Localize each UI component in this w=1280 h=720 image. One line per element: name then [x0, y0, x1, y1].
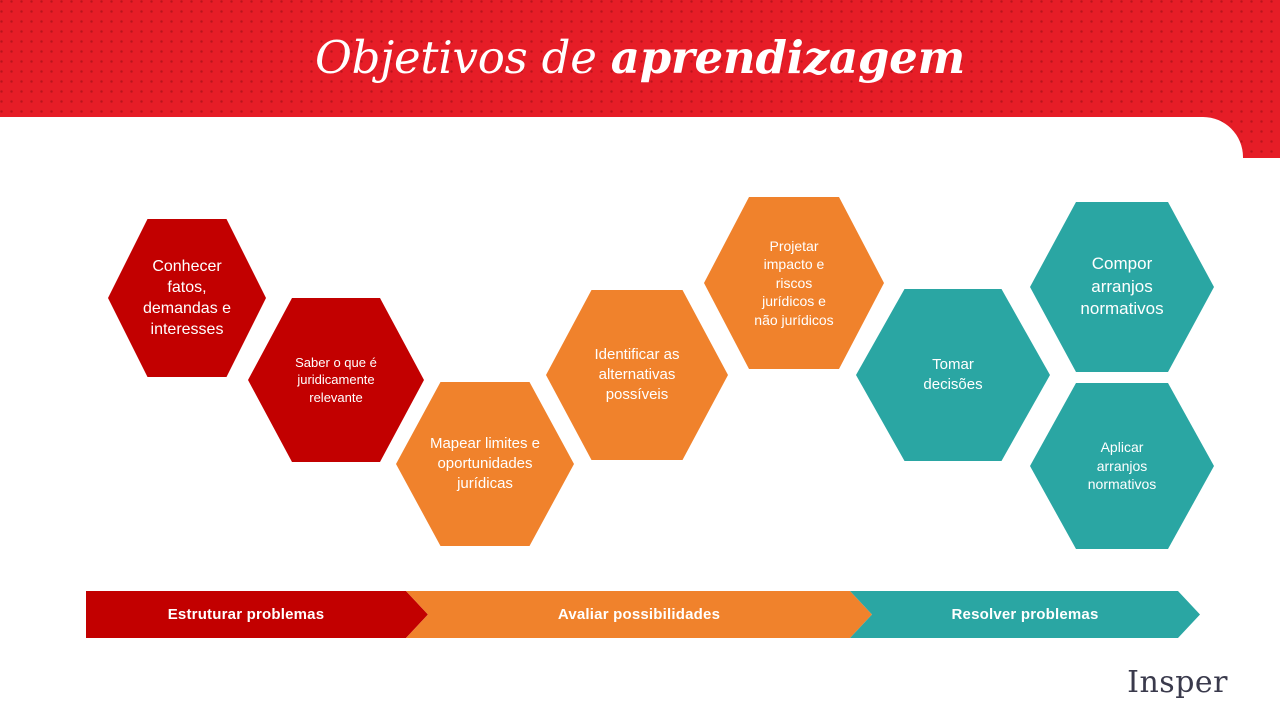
hexagon-label: Aplicar arranjos normativos	[1054, 438, 1190, 493]
hexagon-label: Saber o que é juridicamente relevante	[271, 354, 401, 405]
hexagon-label: Identificar as alternativas possíveis	[570, 345, 705, 404]
chevron-resolver-problemas[interactable]: Resolver problemas	[850, 591, 1200, 638]
hexagon-projetar-impacto-riscos[interactable]: Projetar impacto e riscos jurídicos e nã…	[704, 197, 884, 369]
hexagon-label: Mapear limites e oportunidades jurídicas	[419, 434, 551, 493]
hexagon-label: Projetar impacto e riscos jurídicos e nã…	[727, 237, 860, 329]
hexagon-compor-arranjos[interactable]: Compor arranjos normativos	[1030, 202, 1214, 372]
insper-logo: Insper	[1127, 665, 1228, 700]
hexagon-mapear-limites[interactable]: Mapear limites e oportunidades jurídicas	[396, 382, 574, 546]
process-chevron-bar: Estruturar problemas Avaliar possibilida…	[86, 591, 1200, 638]
chevron-label: Estruturar problemas	[168, 606, 325, 623]
slide-canvas: Objetivos de aprendizagem Conhecer fatos…	[0, 0, 1280, 720]
hexagon-label: Compor arranjos normativos	[1054, 253, 1190, 320]
chevron-label: Resolver problemas	[952, 606, 1099, 623]
hexagon-aplicar-arranjos[interactable]: Aplicar arranjos normativos	[1030, 383, 1214, 549]
chevron-label: Avaliar possibilidades	[558, 606, 720, 623]
hexagon-saber-juridicamente-relevante[interactable]: Saber o que é juridicamente relevante	[248, 298, 424, 462]
hexagon-conhecer-fatos[interactable]: Conhecer fatos, demandas e interesses	[108, 219, 266, 377]
chevron-avaliar-possibilidades[interactable]: Avaliar possibilidades	[406, 591, 872, 638]
hexagon-label: Conhecer fatos, demandas e interesses	[129, 256, 246, 340]
chevron-estruturar-problemas[interactable]: Estruturar problemas	[86, 591, 428, 638]
hexagon-label: Tomar decisões	[881, 355, 1025, 395]
hexagon-identificar-alternativas[interactable]: Identificar as alternativas possíveis	[546, 290, 728, 460]
hexagon-tomar-decisoes[interactable]: Tomar decisões	[856, 289, 1050, 461]
